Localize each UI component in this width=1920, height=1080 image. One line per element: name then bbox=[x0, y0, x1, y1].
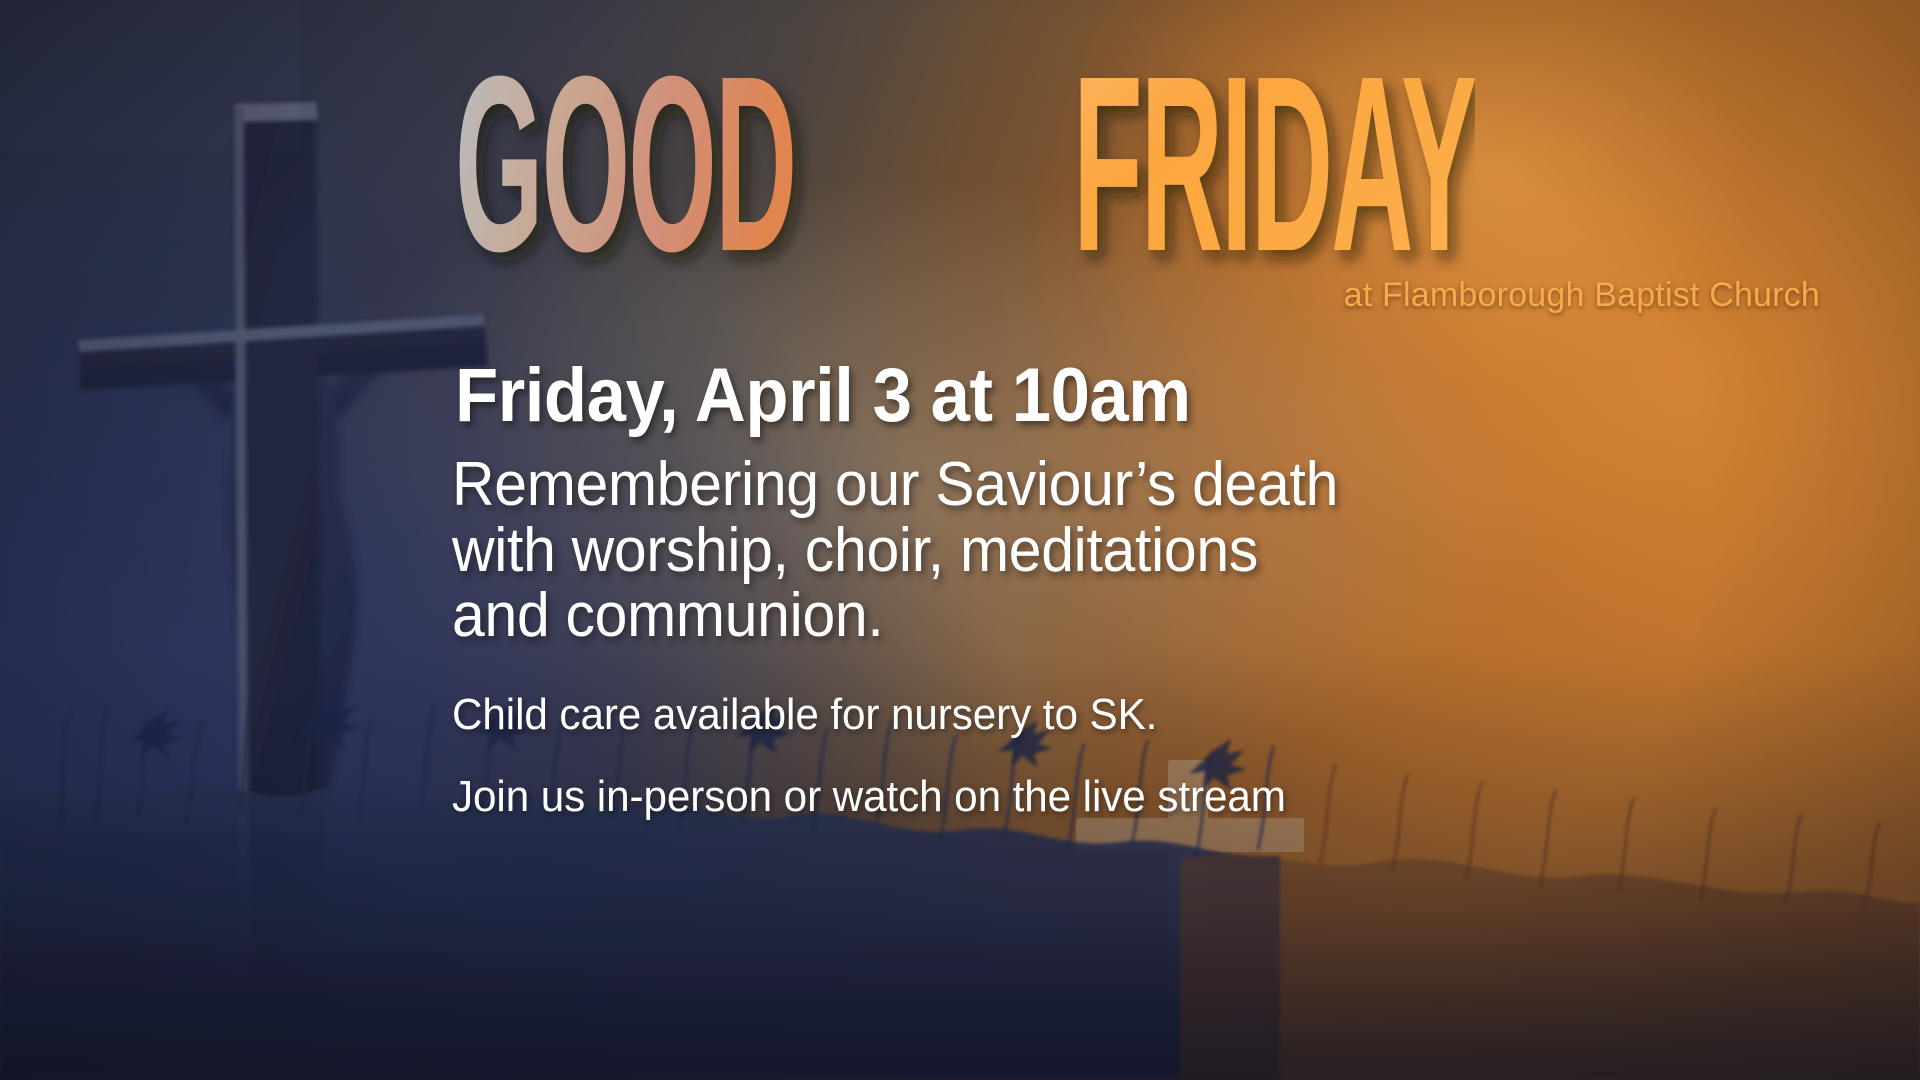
headline-word-friday: FRIDAY bbox=[1073, 52, 1475, 272]
livestream-note: Join us in-person or watch on the live s… bbox=[452, 772, 1286, 822]
description-line-3: and communion. bbox=[452, 583, 1459, 649]
event-description: Remembering our Saviour’s death with wor… bbox=[452, 452, 1459, 649]
childcare-note: Child care available for nursery to SK. bbox=[452, 690, 1157, 740]
page-title: GOOD FRIDAY bbox=[455, 52, 1475, 272]
description-line-2: with worship, choir, meditations bbox=[452, 518, 1459, 584]
poster-content: GOOD FRIDAY at Flamborough Baptist Churc… bbox=[0, 0, 1920, 1080]
good-friday-poster: GOOD FRIDAY at Flamborough Baptist Churc… bbox=[0, 0, 1920, 1080]
description-line-1: Remembering our Saviour’s death bbox=[452, 452, 1459, 518]
event-date-time: Friday, April 3 at 10am bbox=[455, 352, 1191, 439]
headline-artwork: GOOD FRIDAY bbox=[455, 52, 1475, 272]
headline-word-good: GOOD bbox=[455, 52, 795, 272]
church-name-subtitle: at Flamborough Baptist Church bbox=[1344, 276, 1820, 315]
